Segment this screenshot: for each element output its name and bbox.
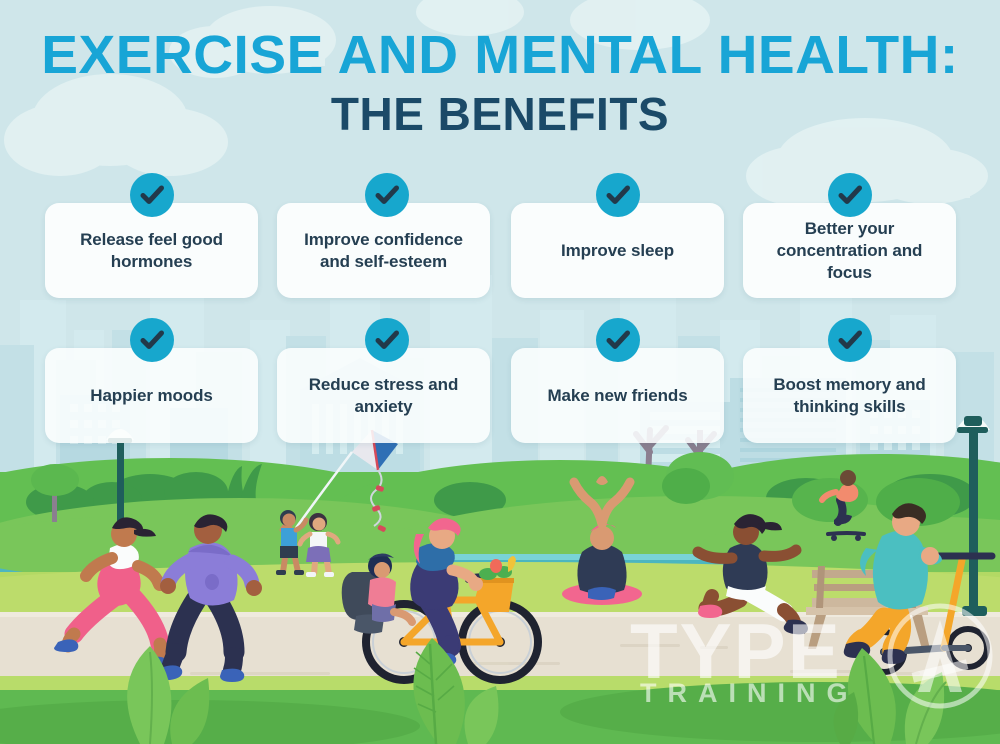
poster-title: EXERCISE AND MENTAL HEALTH: THE BENEFITS: [0, 26, 1000, 140]
check-icon: [837, 182, 863, 208]
benefit-card-label: Happier moods: [90, 385, 212, 407]
check-icon-2: [365, 173, 409, 217]
check-icon: [605, 182, 631, 208]
benefit-card-reduce-stress-and-anxiety[interactable]: Reduce stress and anxiety: [277, 348, 490, 443]
title-line-2: THE BENEFITS: [0, 88, 1000, 140]
check-icon-7: [596, 318, 640, 362]
check-icon-8: [828, 318, 872, 362]
benefit-card-release-feel-good-hormones[interactable]: Release feel good hormones: [45, 203, 258, 298]
check-icon-3: [596, 173, 640, 217]
check-icon: [837, 327, 863, 353]
check-icon: [605, 327, 631, 353]
benefit-card-happier-moods[interactable]: Happier moods: [45, 348, 258, 443]
benefit-card-label: Reduce stress and anxiety: [289, 374, 478, 418]
benefit-card-label: Improve sleep: [561, 240, 674, 262]
benefit-card-boost-memory-and-thinking-skills[interactable]: Boost memory and thinking skills: [743, 348, 956, 443]
benefit-card-label: Improve confidence and self-esteem: [289, 229, 478, 273]
check-icon: [139, 327, 165, 353]
benefit-card-label: Make new friends: [547, 385, 687, 407]
benefit-card-label: Boost memory and thinking skills: [755, 374, 944, 418]
check-icon: [374, 327, 400, 353]
benefit-card-improve-sleep[interactable]: Improve sleep: [511, 203, 724, 298]
check-icon-1: [130, 173, 174, 217]
benefit-card-improve-confidence-and-self-esteem[interactable]: Improve confidence and self-esteem: [277, 203, 490, 298]
title-line-1: EXERCISE AND MENTAL HEALTH:: [0, 26, 1000, 84]
check-icon-5: [130, 318, 174, 362]
check-icon: [374, 182, 400, 208]
check-icon: [139, 182, 165, 208]
benefit-card-label: Release feel good hormones: [57, 229, 246, 273]
check-icon-6: [365, 318, 409, 362]
infographic-poster: EXERCISE AND MENTAL HEALTH: THE BENEFITS…: [0, 0, 1000, 744]
benefit-card-better-your-concentration-and-focus[interactable]: Better your concentration and focus: [743, 203, 956, 298]
benefit-card-label: Better your concentration and focus: [755, 218, 944, 284]
check-icon-4: [828, 173, 872, 217]
benefit-card-make-new-friends[interactable]: Make new friends: [511, 348, 724, 443]
